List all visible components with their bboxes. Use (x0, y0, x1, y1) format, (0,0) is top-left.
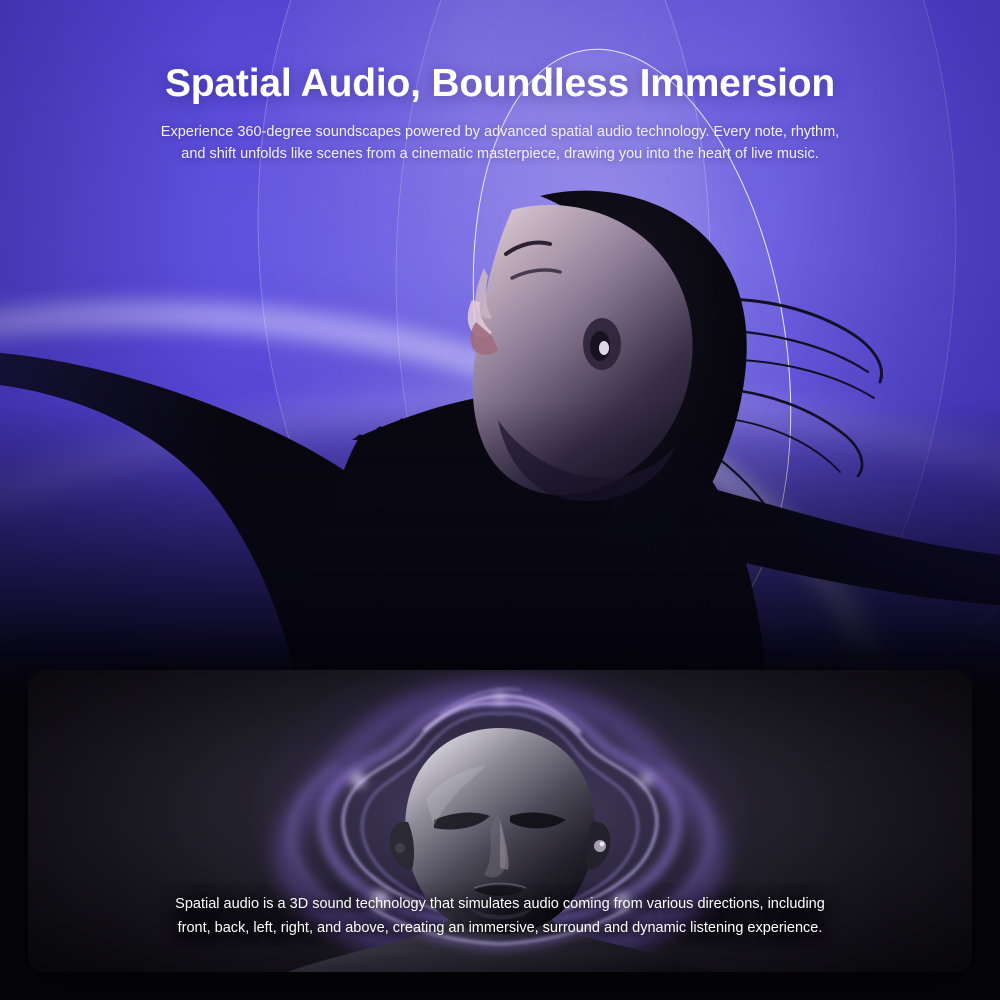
spatial-audio-card: Spatial audio is a 3D sound technology t… (28, 670, 972, 972)
sound-ring-head (448, 197, 724, 616)
hero-subtitle-line-2: and shift unfolds like scenes from a cin… (0, 143, 1000, 165)
hero-subtitle-line-1: Experience 360-degree soundscapes powere… (0, 121, 1000, 143)
spatial-audio-page: Spatial Audio, Boundless Immersion Exper… (0, 0, 1000, 1000)
hero-subtitle: Experience 360-degree soundscapes powere… (0, 121, 1000, 166)
card-caption-line-2: front, back, left, right, and above, cre… (78, 917, 922, 940)
card-caption-line-1: Spatial audio is a 3D sound technology t… (78, 893, 922, 916)
hero-section: Spatial Audio, Boundless Immersion Exper… (0, 0, 1000, 700)
card-caption: Spatial audio is a 3D sound technology t… (78, 893, 922, 940)
hero-light-arc-primary (0, 300, 900, 700)
hero-copy-block: Spatial Audio, Boundless Immersion Exper… (0, 62, 1000, 166)
hero-bottom-fade (0, 400, 1000, 700)
page-title: Spatial Audio, Boundless Immersion (0, 62, 1000, 107)
hero-light-arc-secondary (0, 392, 1000, 700)
